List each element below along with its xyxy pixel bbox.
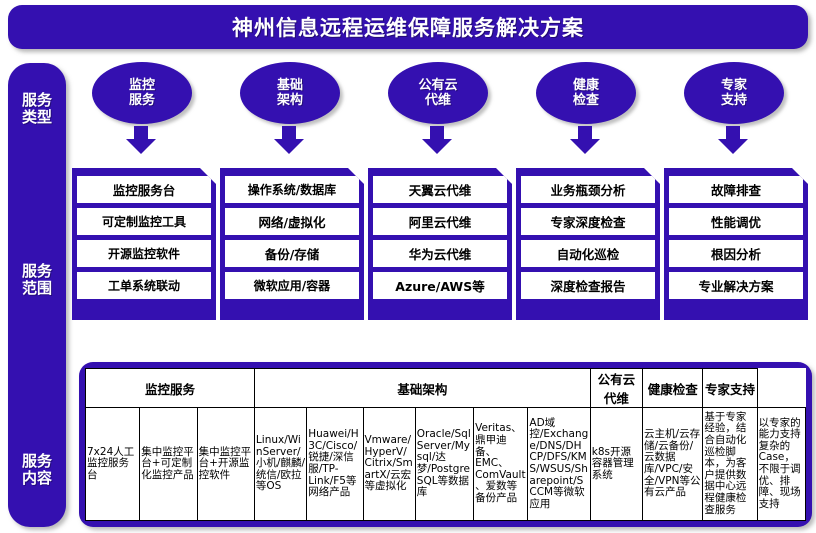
table-cell: Huawei/H3C/Cisco/锐捷/深信服/TP-Link/F5等网络产品: [307, 408, 363, 521]
service-type-label-line1: 健康: [573, 78, 599, 93]
service-type-label-line2: 架构: [277, 93, 303, 108]
sidebar-label-line2: 类型: [22, 108, 52, 126]
scope-item: 监控服务台: [77, 176, 211, 203]
sidebar-label-line2: 内容: [22, 469, 52, 487]
scope-item: 专家深度检查: [521, 208, 655, 235]
service-type-ellipse: 监控 服务: [92, 62, 192, 124]
scope-card-monitoring: 监控服务台 可定制监控工具 开源监控软件 工单系统联动: [72, 168, 216, 320]
service-type-ellipse: 基础 架构: [240, 62, 340, 124]
service-type-label-line1: 公有云: [418, 78, 457, 93]
table-cell: AD域控/Exchange/DNS/DHCP/DFS/KMS/WSUS/Shar…: [528, 408, 590, 521]
service-content-panel: 监控服务 基础架构 公有云代维 健康检查 专家支持 7x24人工监控服务台 集中…: [79, 362, 812, 527]
table-header-health-check: 健康检查: [643, 369, 703, 408]
service-type-label-line1: 专家: [721, 78, 747, 93]
table-header-public-cloud: 公有云代维: [590, 369, 642, 408]
diagram-title-bar: 神州信息远程运维保障服务解决方案: [8, 5, 808, 49]
scope-item: 可定制监控工具: [77, 208, 211, 235]
table-row: 7x24人工监控服务台 集中监控平台+可定制化监控产品 集中监控平台+开源监控软…: [86, 408, 806, 521]
scope-item: 自动化巡检: [521, 240, 655, 267]
table-cell: 7x24人工监控服务台: [86, 408, 140, 521]
table-header-monitoring: 监控服务: [86, 369, 255, 408]
scope-item: 业务瓶颈分析: [521, 176, 655, 203]
service-type-row: 监控 服务 基础 架构 公有云 代维: [72, 62, 812, 162]
sidebar-item-service-scope: 服务 范围: [8, 263, 66, 297]
service-type-label-line2: 支持: [721, 93, 747, 108]
service-scope-row: 监控服务台 可定制监控工具 开源监控软件 工单系统联动 操作系统/数据库 网络/…: [72, 168, 812, 323]
sidebar-label-line1: 服务: [22, 452, 52, 470]
scope-item: 天翼云代维: [373, 176, 507, 203]
service-type-ellipse: 专家 支持: [684, 62, 784, 124]
table-cell: Linux/WinServer/小机/麒麟/统信/欧拉等OS: [254, 408, 306, 521]
scope-item: 网络/虚拟化: [225, 208, 359, 235]
service-type-node-infrastructure: 基础 架构: [240, 62, 344, 162]
row-label-sidebar: 服务 类型 服务 范围 服务 内容: [8, 63, 66, 527]
service-type-label-line2: 代维: [425, 93, 451, 108]
service-type-node-monitoring: 监控 服务: [92, 62, 196, 162]
service-type-label-line1: 基础: [277, 78, 303, 93]
service-content-table: 监控服务 基础架构 公有云代维 健康检查 专家支持 7x24人工监控服务台 集中…: [85, 368, 806, 521]
scope-item: 阿里云代维: [373, 208, 507, 235]
scope-item: 备份/存储: [225, 240, 359, 267]
table-cell: Vmware/HyperV/Citrix/SmartX/云宏等虚拟化: [363, 408, 415, 521]
scope-item: 开源监控软件: [77, 240, 211, 267]
scope-item: Azure/AWS等: [373, 272, 507, 299]
table-header-infrastructure: 基础架构: [254, 369, 590, 408]
scope-item: 华为云代维: [373, 240, 507, 267]
service-type-node-public-cloud: 公有云 代维: [388, 62, 492, 162]
scope-card-infrastructure: 操作系统/数据库 网络/虚拟化 备份/存储 微软应用/容器: [220, 168, 364, 320]
table-header-expert-support: 专家支持: [703, 369, 757, 408]
table-cell: Veritas、鼎甲迪备、EMC、ComVault、爱数等备份产品: [474, 408, 528, 521]
page-title: 神州信息远程运维保障服务解决方案: [232, 12, 584, 42]
scope-item: 根因分析: [669, 240, 803, 267]
service-type-label-line2: 检查: [573, 93, 599, 108]
scope-item: 故障排查: [669, 176, 803, 203]
service-type-ellipse: 公有云 代维: [388, 62, 488, 124]
scope-item: 深度检查报告: [521, 272, 655, 299]
table-cell: 集中监控平台+开源监控软件: [197, 408, 254, 521]
scope-item: 专业解决方案: [669, 272, 803, 299]
service-type-node-expert-support: 专家 支持: [684, 62, 788, 162]
table-cell: k8s开源容器管理系统: [590, 408, 642, 521]
sidebar-item-service-type: 服务 类型: [8, 92, 66, 126]
table-cell: Oracle/SqlServer/Mysql/达梦/PostgreSQL等数据库: [415, 408, 473, 521]
scope-item: 操作系统/数据库: [225, 176, 359, 203]
table-cell: 基于专家经验，结合自动化巡检脚本，为客户提供数据中心远程健康检查服务: [703, 408, 757, 521]
scope-card-public-cloud: 天翼云代维 阿里云代维 华为云代维 Azure/AWS等: [368, 168, 512, 320]
sidebar-label-line1: 服务: [22, 262, 52, 280]
table-cell: 集中监控平台+可定制化监控产品: [140, 408, 197, 521]
sidebar-item-service-content: 服务 内容: [8, 453, 66, 487]
service-type-label-line1: 监控: [129, 78, 155, 93]
table-cell: 以专家的能力支持复杂的Case，不限于调优、排障、现场支持: [757, 408, 805, 521]
scope-card-health-check: 业务瓶颈分析 专家深度检查 自动化巡检 深度检查报告: [516, 168, 660, 320]
diagram-canvas: 神州信息远程运维保障服务解决方案 服务 类型 服务 范围 服务 内容 监控 服务: [0, 0, 816, 533]
scope-item: 微软应用/容器: [225, 272, 359, 299]
sidebar-label-line2: 范围: [22, 279, 52, 297]
scope-card-expert-support: 故障排查 性能调优 根因分析 专业解决方案: [664, 168, 808, 320]
scope-item: 性能调优: [669, 208, 803, 235]
table-header-row: 监控服务 基础架构 公有云代维 健康检查 专家支持: [86, 369, 806, 408]
service-type-node-health-check: 健康 检查: [536, 62, 640, 162]
sidebar-label-line1: 服务: [22, 91, 52, 109]
scope-item: 工单系统联动: [77, 272, 211, 299]
service-type-ellipse: 健康 检查: [536, 62, 636, 124]
service-type-label-line2: 服务: [129, 93, 155, 108]
table-cell: 云主机/云存储/云备份/云数据库/VPC/安全/VPN等公有云产品: [643, 408, 703, 521]
